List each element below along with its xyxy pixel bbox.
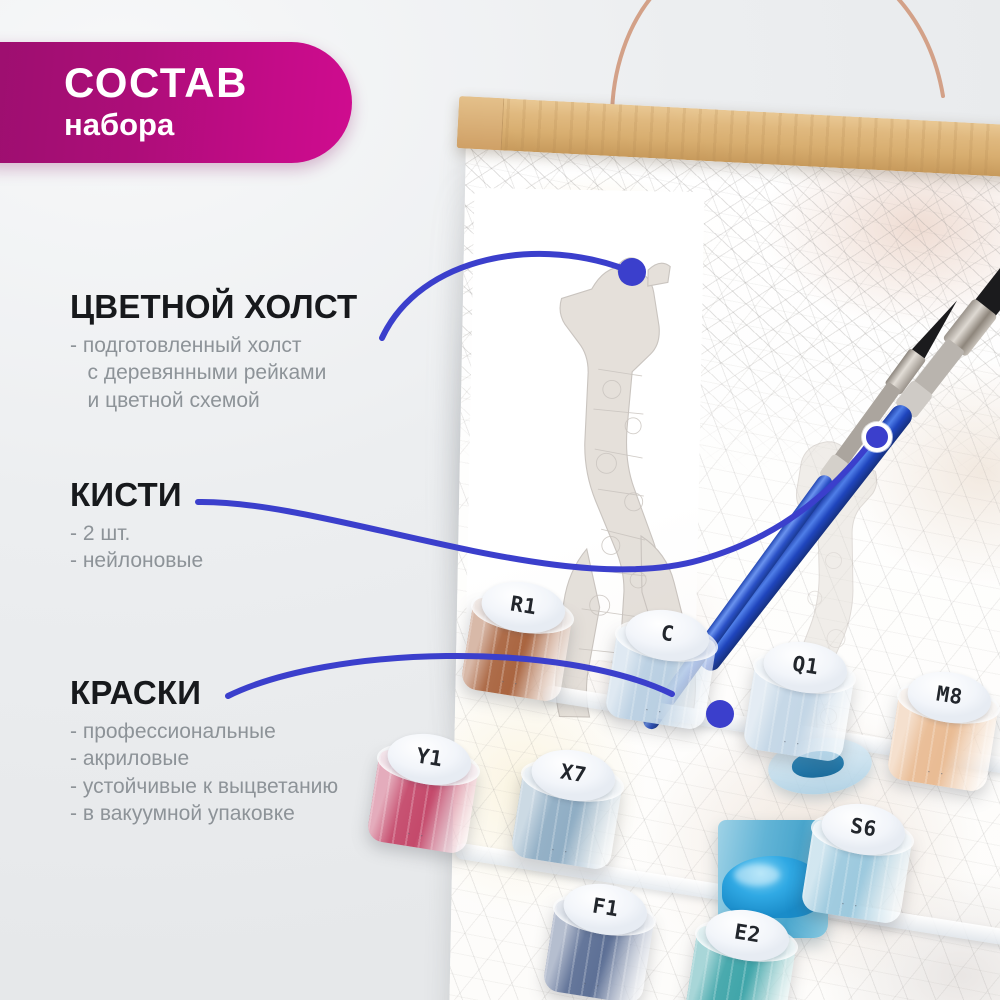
feature-canvas-bullets: - подготовленный холст с деревянными рей… <box>70 332 357 414</box>
pot-dots: . . <box>606 696 706 722</box>
pot-dots: . . <box>544 970 644 996</box>
feature-brushes-title: КИСТИ <box>70 478 203 511</box>
feature-brushes: КИСТИ - 2 шт.- нейлоновые <box>70 478 203 575</box>
feature-bullet: и цветной схемой <box>70 387 357 414</box>
pot-code-label: X7 <box>559 760 589 788</box>
promo-banner: . .R1. .C. .Q1. .M8. .Y1. .X7. .S6. .F1.… <box>0 0 1000 1000</box>
paint-pot-x7: . .X7 <box>507 743 628 876</box>
paint-pot-y1: . .Y1 <box>363 727 484 860</box>
feature-bullet: - 2 шт. <box>70 520 203 547</box>
connector-dot-canvas <box>618 258 646 286</box>
pot-code-label: F1 <box>591 894 621 922</box>
pot-dots: . . <box>888 758 988 784</box>
feature-bullet: - нейлоновые <box>70 547 203 574</box>
paint-pot-q1: . .Q1 <box>739 635 860 768</box>
pot-code-label: Q1 <box>791 652 821 680</box>
feature-bullet: - подготовленный холст <box>70 332 357 359</box>
badge-line-1: СОСТАВ <box>64 62 352 104</box>
feature-paints-bullets: - профессиональные- акриловые- устойчивы… <box>70 718 338 827</box>
pot-code-label: S6 <box>849 814 879 842</box>
pot-code-label: M8 <box>935 682 965 710</box>
connector-dot-brushes <box>862 422 892 452</box>
connector-dot-paints <box>706 700 734 728</box>
feature-bullet: с деревянными рейками <box>70 359 357 386</box>
paint-pot-c: . .C <box>601 603 722 736</box>
paint-pot-e2: . .E2 <box>681 903 802 1000</box>
pot-dots: . . <box>462 668 562 694</box>
feature-bullet: - акриловые <box>70 745 338 772</box>
paint-pot-f1: . .F1 <box>539 877 660 1000</box>
feature-canvas-title: ЦВЕТНОЙ ХОЛСТ <box>70 290 357 323</box>
pot-dots: . . <box>744 728 844 754</box>
section-badge: СОСТАВ набора <box>0 42 352 163</box>
pot-dots: . . <box>802 890 902 916</box>
feature-paints-title: КРАСКИ <box>70 676 338 709</box>
feature-paints: КРАСКИ - профессиональные- акриловые- ус… <box>70 676 338 827</box>
feature-bullet: - в вакуумной упаковке <box>70 800 338 827</box>
feature-canvas: ЦВЕТНОЙ ХОЛСТ - подготовленный холст с д… <box>70 290 357 414</box>
pot-code-label: R1 <box>509 592 539 620</box>
pot-code-label: C <box>659 621 676 647</box>
feature-bullet: - профессиональные <box>70 718 338 745</box>
paint-pot-s6: . .S6 <box>797 797 918 930</box>
badge-line-2: набора <box>64 107 352 143</box>
feature-bullet: - устойчивые к выцветанию <box>70 773 338 800</box>
feature-brushes-bullets: - 2 шт.- нейлоновые <box>70 520 203 575</box>
pot-code-label: Y1 <box>415 744 445 772</box>
paint-pot-r1: . .R1 <box>457 575 578 708</box>
pot-dots: . . <box>368 820 468 846</box>
pot-dots: . . <box>686 996 786 1000</box>
paint-pot-m8: . .M8 <box>883 665 1000 798</box>
pot-dots: . . <box>512 836 612 862</box>
pot-code-label: E2 <box>733 920 763 948</box>
